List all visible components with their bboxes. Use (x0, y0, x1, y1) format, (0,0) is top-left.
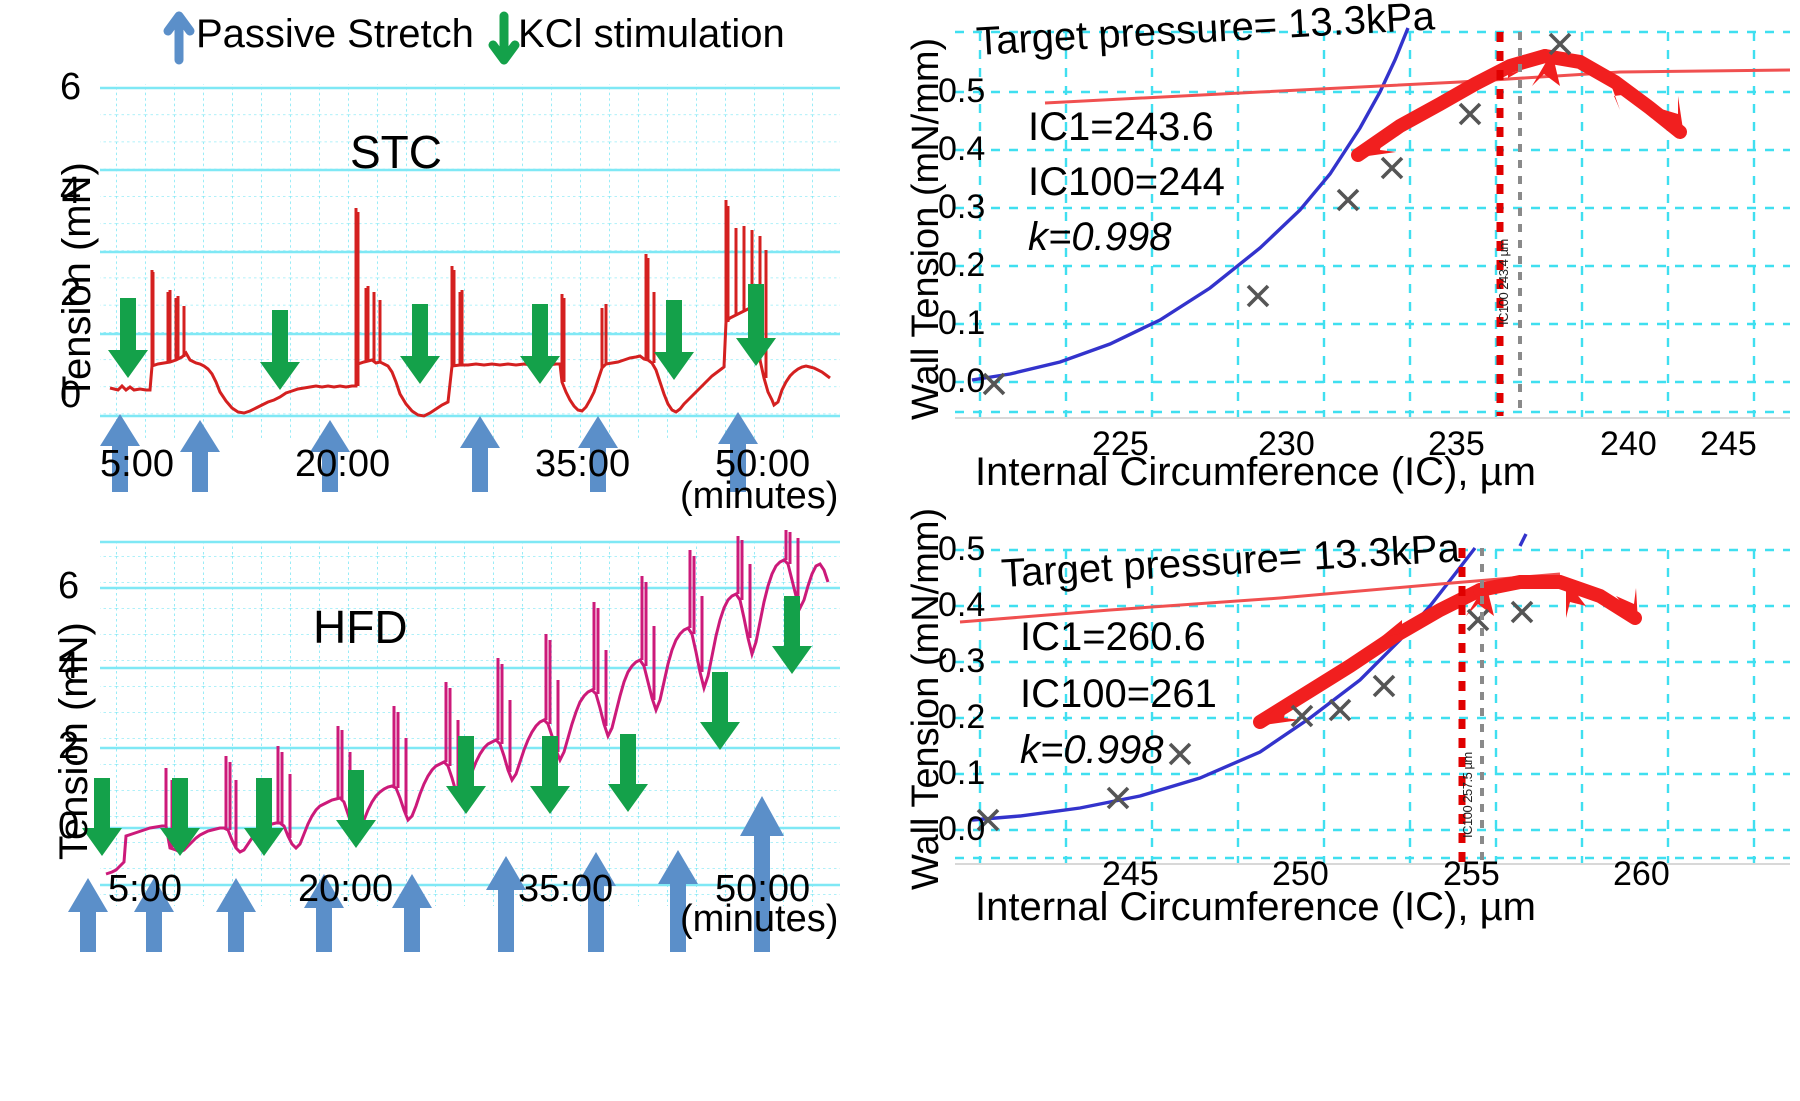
stc-norm-ytick-05: 0.5 (938, 72, 985, 111)
hfd-ic1-annotation: IC1=260.6 (1020, 615, 1206, 660)
stc-ytick-2: 2 (60, 272, 81, 315)
hfd-group-label: HFD (313, 600, 408, 654)
hfd-ytick-0: 0 (58, 805, 79, 848)
hfd-xlabel-unit: (minutes) (680, 898, 838, 941)
hfd-norm-ytick-00: 0.0 (938, 810, 985, 849)
stc-xtick-0: 5:00 (100, 443, 174, 486)
stc-norm-xlabel: Internal Circumference (IC), µm (975, 450, 1536, 495)
up-arrow-icon (168, 16, 190, 60)
stc-norm-ytick-01: 0.1 (938, 304, 985, 343)
stc-norm-ytick-00: 0.0 (938, 362, 985, 401)
hfd-ytick-6: 6 (58, 565, 79, 608)
stc-norm-ytick-02: 0.2 (938, 246, 985, 285)
stc-ytick-6: 6 (60, 66, 81, 109)
stc-group-label: STC (350, 125, 442, 179)
stc-norm-ytick-04: 0.4 (938, 130, 985, 169)
panel-stc-normalization (860, 0, 1800, 500)
hfd-norm-ytick-04: 0.4 (938, 586, 985, 625)
stc-xtick-1: 20:00 (295, 443, 390, 486)
stc-ic1-annotation: IC1=243.6 (1028, 105, 1214, 150)
hfd-xtick-1: 20:00 (298, 868, 393, 911)
hfd-ic100-annotation: IC100=261 (1020, 672, 1217, 717)
hfd-norm-xlabel: Internal Circumference (IC), µm (975, 885, 1536, 930)
stc-ytick-4: 4 (60, 170, 81, 213)
stc-ytick-0: 0 (60, 374, 81, 417)
hfd-ytick-4: 4 (58, 645, 79, 688)
hfd-norm-xtick-260: 260 (1613, 855, 1670, 894)
stc-ic100-annotation: IC100=244 (1028, 160, 1225, 205)
hfd-norm-ytick-01: 0.1 (938, 754, 985, 793)
hfd-xtick-0: 5:00 (108, 868, 182, 911)
legend-kcl (493, 16, 515, 60)
legend-passive-stretch-label: Passive Stretch (196, 12, 474, 57)
hfd-fit-curve-tail (1520, 534, 1526, 546)
stc-norm-xtick-245: 245 (1700, 425, 1757, 464)
stc-norm-svg (860, 0, 1800, 500)
stc-k-annotation: k=0.998 (1028, 215, 1171, 260)
hfd-xtick-2: 35:00 (518, 868, 613, 911)
hfd-norm-ytick-05: 0.5 (938, 530, 985, 569)
stc-norm-ytick-03: 0.3 (938, 188, 985, 227)
legend-passive-stretch (168, 16, 190, 60)
hfd-vline-label: IC100 257.5 µm (1460, 752, 1475, 838)
hfd-norm-ytick-02: 0.2 (938, 698, 985, 737)
down-arrow-icon (493, 16, 515, 60)
legend-kcl-label: KCl stimulation (518, 12, 785, 57)
stc-xtick-2: 35:00 (535, 443, 630, 486)
stc-vline-label: IC100 243.4 µm (1496, 239, 1511, 325)
hfd-norm-ytick-03: 0.3 (938, 642, 985, 681)
stc-norm-xtick-240: 240 (1600, 425, 1657, 464)
stc-xlabel-unit: (minutes) (680, 475, 838, 518)
hfd-k-annotation: k=0.998 (1020, 728, 1163, 773)
hfd-ytick-2: 2 (58, 725, 79, 768)
